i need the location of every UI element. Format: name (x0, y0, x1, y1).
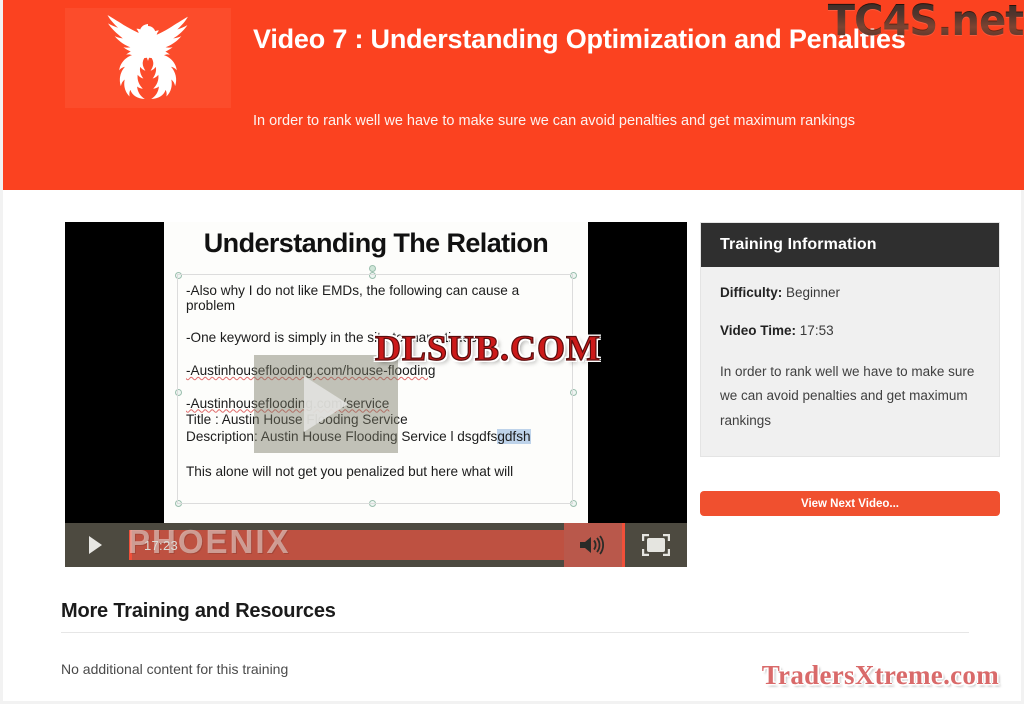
phoenix-logo-icon (88, 12, 208, 104)
page-header: Video 7 : Understanding Optimization and… (3, 0, 1024, 190)
watermark-tc4s: TC4S.net (827, 0, 1023, 46)
difficulty-label: Difficulty: (720, 285, 782, 300)
video-time-label: Video Time: (720, 323, 796, 338)
panel-description: In order to rank well we have to make su… (720, 360, 980, 435)
difficulty-value: Beginner (786, 285, 840, 300)
play-button-icon[interactable] (65, 523, 125, 567)
view-next-video-button[interactable]: View Next Video... (700, 491, 1000, 516)
play-overlay[interactable] (254, 355, 398, 453)
watermark-dlsub: DLSUB.COM (375, 327, 601, 369)
page-subtitle: In order to rank well we have to make su… (253, 110, 963, 134)
slide-line: This alone will not get you penalized bu… (186, 465, 566, 480)
slide-handle (369, 265, 376, 272)
difficulty-row: Difficulty: Beginner (720, 283, 980, 303)
video-controls-bar[interactable]: PHOENIX 17:23 (65, 523, 687, 567)
seek-bar[interactable]: PHOENIX 17:23 (129, 530, 564, 560)
more-training-heading: More Training and Resources (61, 600, 336, 623)
video-time-value: 17:53 (800, 323, 834, 338)
play-triangle-icon[interactable] (254, 355, 398, 453)
panel-title: Training Information (701, 223, 999, 267)
slide-line: -Also why I do not like EMDs, the follow… (186, 284, 566, 313)
slide-line-highlight: gdfsh (497, 429, 530, 444)
slide-title: Understanding The Relation (164, 228, 588, 259)
no-content-message: No additional content for this training (61, 661, 288, 677)
current-time-label: 17:23 (144, 538, 178, 553)
training-information-panel: Training Information Difficulty: Beginne… (700, 222, 1000, 457)
video-time-row: Video Time: 17:53 (720, 321, 980, 341)
brand-logo-box (65, 8, 231, 108)
page-root: Video 7 : Understanding Optimization and… (0, 0, 1024, 704)
section-divider (61, 632, 969, 633)
volume-icon[interactable] (564, 523, 625, 567)
panel-body: Difficulty: Beginner Video Time: 17:53 I… (701, 267, 999, 456)
video-player[interactable]: Understanding The Relation -Also why I d… (65, 222, 687, 567)
watermark-tradersxtreme: TradersXtreme.com (762, 660, 999, 691)
fullscreen-icon[interactable] (625, 523, 687, 567)
